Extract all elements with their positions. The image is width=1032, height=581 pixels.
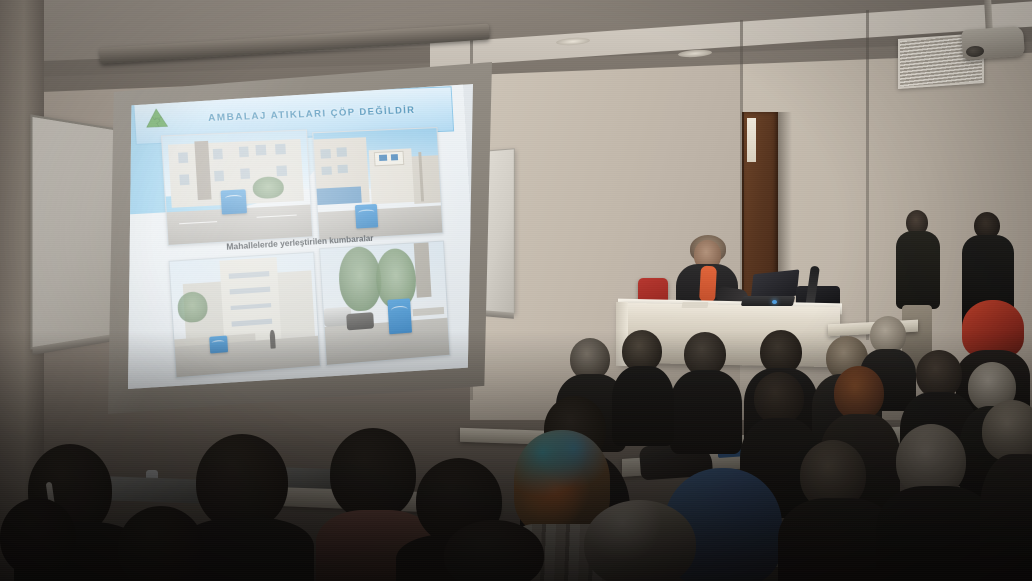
slide-photo-bottom-right: [319, 240, 451, 365]
presenter-scarf: [699, 266, 717, 303]
seminar-room-photo: AMBALAJ ATIKLARI ÇÖP DEĞİLDİR: [0, 0, 1032, 581]
attendee: [612, 330, 674, 442]
head: [754, 372, 804, 424]
head: [118, 506, 204, 581]
desk-papers: [681, 302, 708, 308]
attendee: [876, 424, 996, 581]
slide-photo-top-left: [161, 129, 313, 246]
recycling-bin: [221, 189, 247, 214]
projected-slide: AMBALAJ ATIKLARI ÇÖP DEĞİLDİR: [128, 84, 473, 389]
recycling-bin: [209, 336, 227, 353]
head: [444, 520, 544, 581]
torso: [612, 366, 674, 446]
slide-photo-bottom-left: [168, 251, 320, 378]
laptop-led-icon: [772, 300, 777, 304]
slide-photo-top-right: [312, 127, 443, 241]
head: [916, 350, 962, 398]
slide-title: AMBALAJ ATIKLARI ÇÖP DEĞİLDİR: [172, 103, 452, 125]
recycling-logo-icon: [140, 106, 174, 135]
torso: [670, 370, 742, 454]
laptop-base[interactable]: [741, 296, 795, 306]
torso: [876, 486, 996, 581]
attendee: [980, 400, 1032, 581]
head: [982, 400, 1032, 462]
wall-seam: [866, 10, 869, 340]
head: [584, 500, 696, 581]
attendee: [584, 500, 734, 581]
recycling-bin: [355, 204, 379, 228]
attendee: [670, 332, 742, 450]
attendee: [0, 498, 110, 581]
attendee: [444, 520, 574, 581]
recycling-bin: [388, 298, 412, 334]
head: [834, 366, 884, 420]
door-glass-panel: [747, 118, 756, 162]
parked-car: [346, 312, 374, 330]
torso: [980, 454, 1032, 581]
torso: [896, 231, 940, 309]
attendee: [118, 506, 238, 581]
head: [0, 498, 76, 576]
